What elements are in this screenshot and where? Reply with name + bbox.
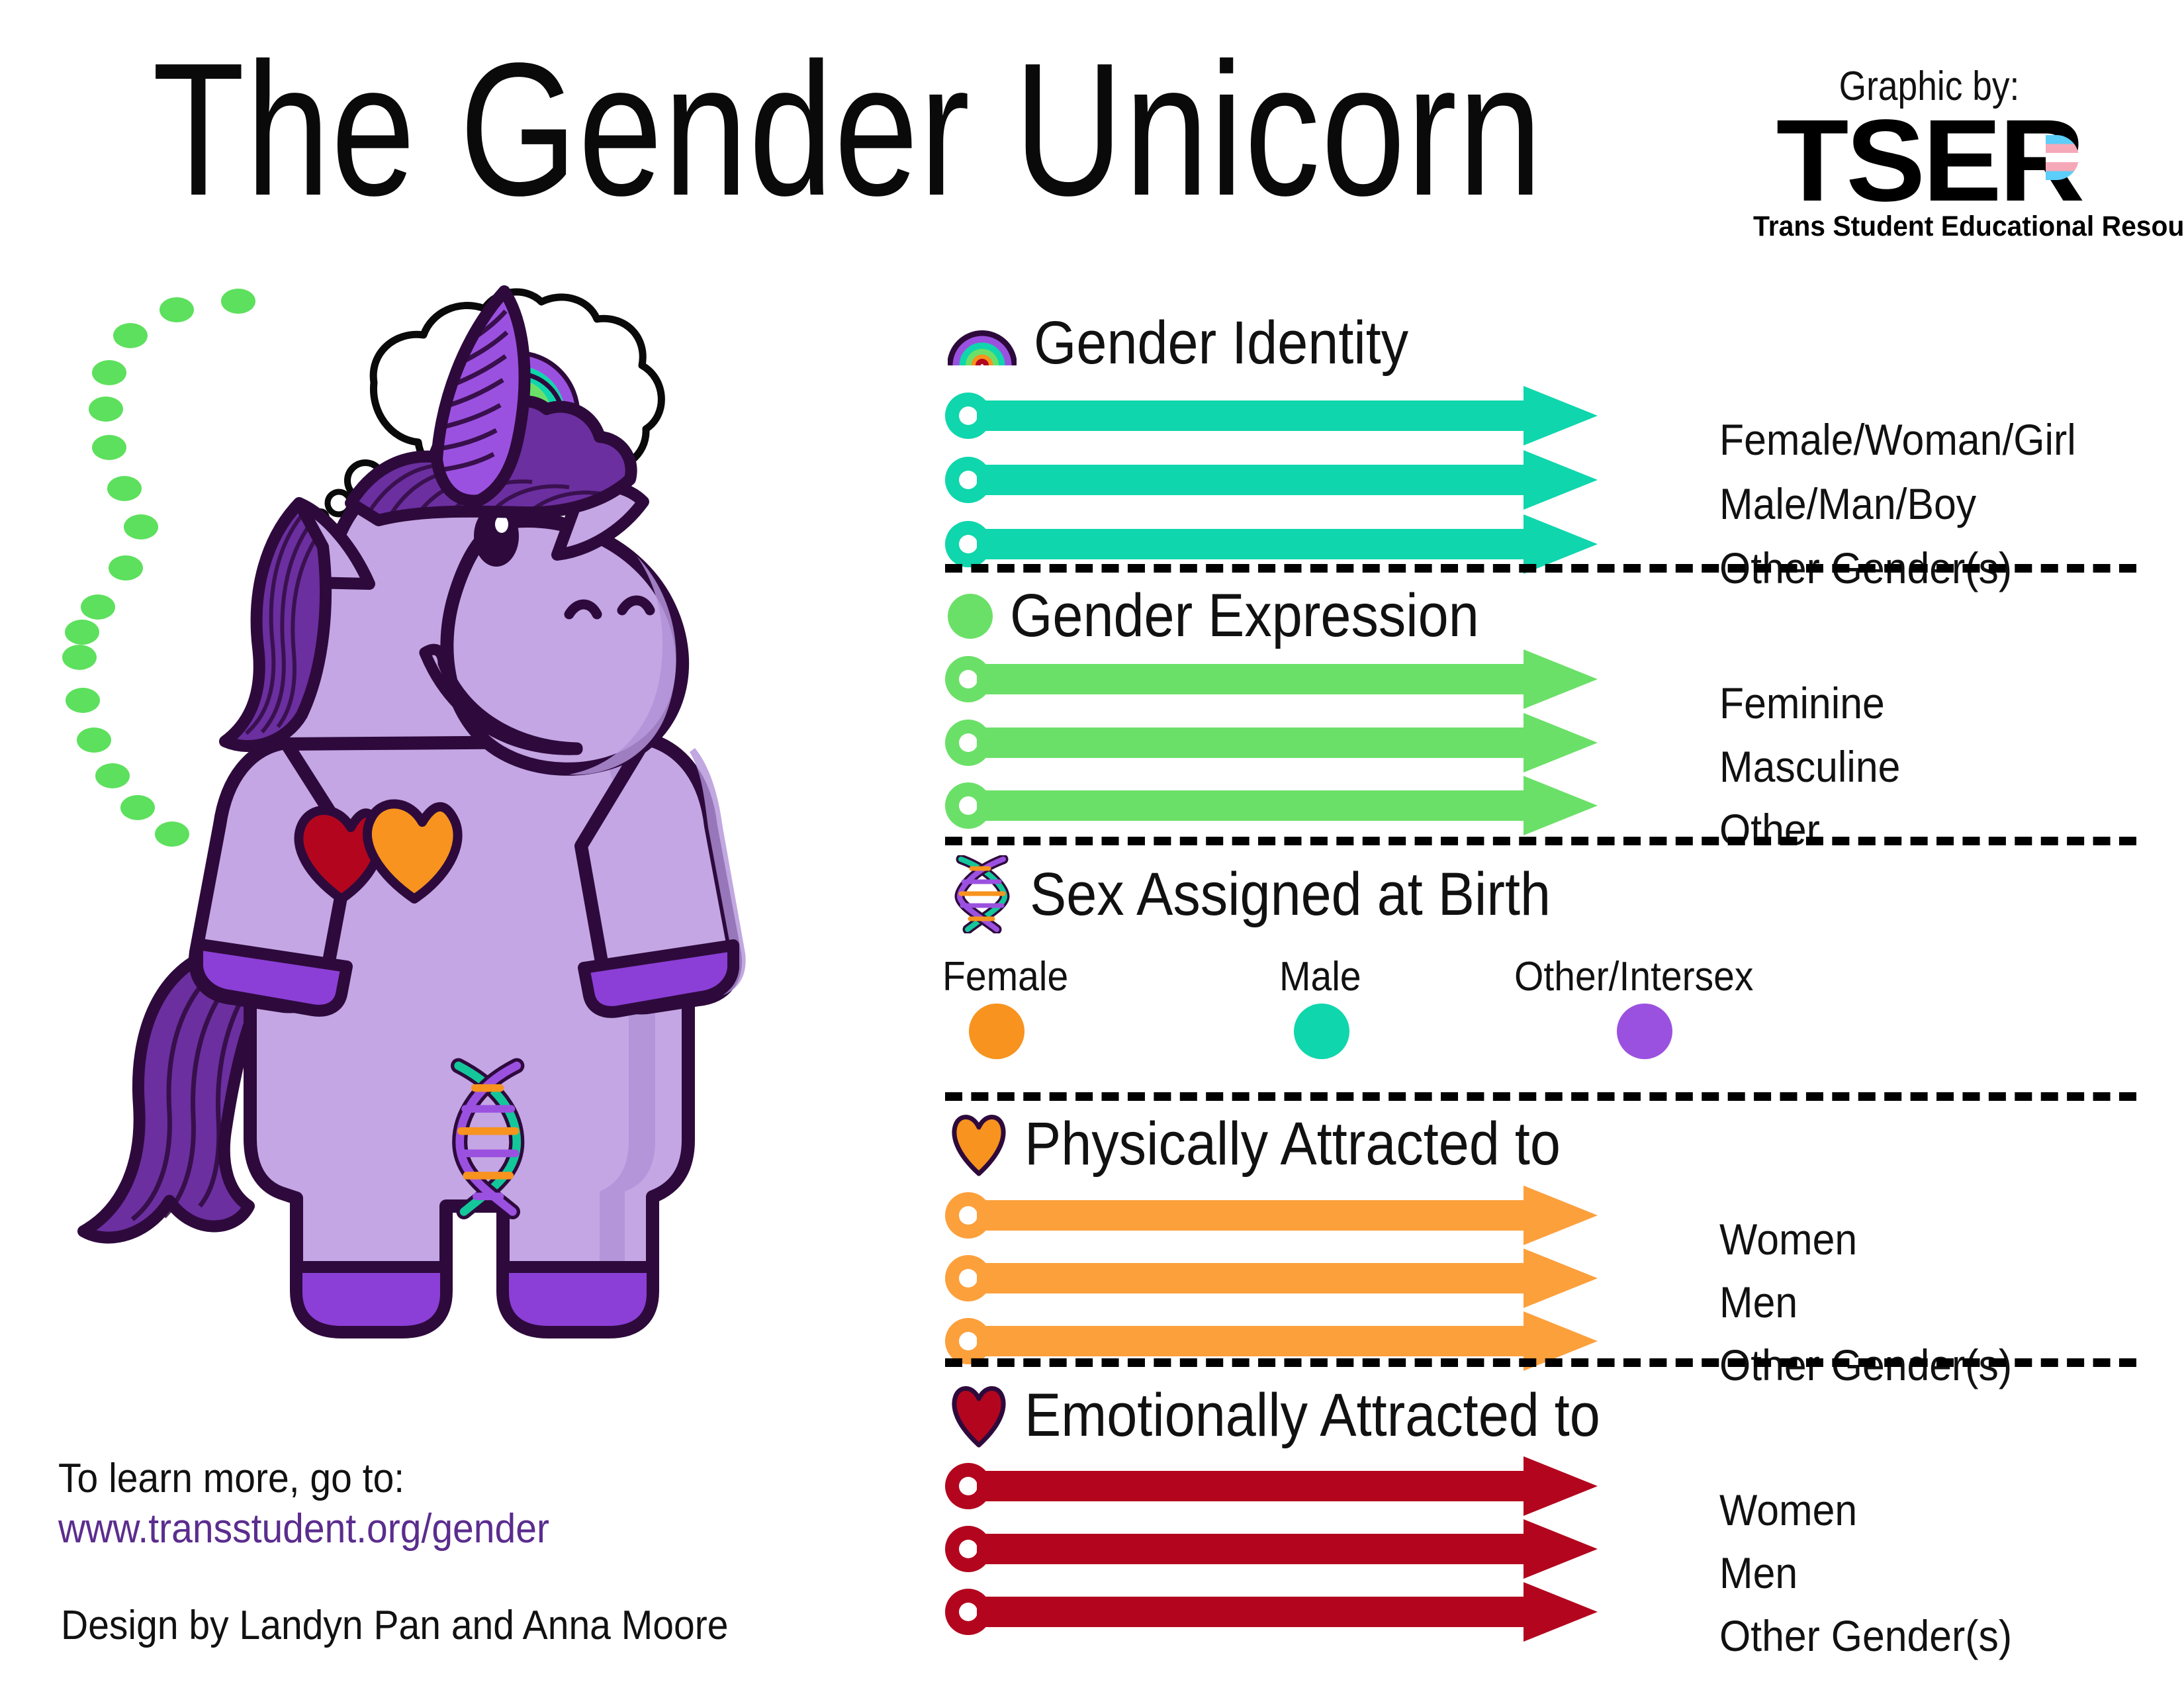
arrow-male-man-boy[interactable] — [945, 465, 1594, 495]
arrow-bar — [977, 465, 1533, 495]
row-label-emotionally-women: Women — [1719, 1485, 1857, 1535]
sex-label-other-intersex: Other/Intersex — [1514, 953, 1753, 1000]
arrow-physically-other-genders[interactable] — [945, 1326, 1594, 1356]
section-title-gender-expression: Gender Expression — [1010, 581, 1479, 651]
arrow-bar — [977, 727, 1533, 758]
arrow-physically-men[interactable] — [945, 1263, 1594, 1293]
arrow-bar — [977, 1263, 1533, 1293]
section-divider — [945, 1092, 2136, 1101]
design-credit: Design by Landyn Pan and Anna Moore — [61, 1602, 728, 1649]
page-title: The Gender Unicorn — [152, 36, 1543, 222]
arrow-head — [1524, 1582, 1598, 1642]
section-title-sex-assigned-at-birth: Sex Assigned at Birth — [1030, 860, 1551, 929]
section-header-physically-attracted-to: Physically Attracted to — [950, 1109, 1620, 1179]
arrow-bar — [977, 664, 1533, 694]
arrow-head — [1524, 386, 1598, 445]
arrow-head — [1524, 713, 1598, 773]
sex-label-male: Male — [1279, 953, 1361, 1000]
sex-dot-male[interactable] — [1294, 1004, 1349, 1059]
section-header-gender-identity: Gender Identity — [948, 308, 1450, 378]
gender-unicorn-character — [40, 285, 920, 1397]
arrow-head — [1524, 649, 1598, 709]
arrow-emotionally-other-genders[interactable] — [945, 1597, 1594, 1627]
arrow-bar — [977, 1534, 1533, 1564]
arrow-head — [1524, 776, 1598, 835]
arrow-other-expression[interactable] — [945, 790, 1594, 821]
arrow-female-woman-girl[interactable] — [945, 400, 1594, 431]
row-label-emotionally-men: Men — [1719, 1548, 1797, 1598]
arrow-head — [1524, 450, 1598, 510]
tser-subtitle: Trans Student Educational Resources — [1753, 211, 2105, 243]
tser-wordmark: TSER — [1744, 111, 2115, 209]
arrow-bar — [977, 400, 1533, 431]
learn-more-label: To learn more, go to: — [58, 1455, 404, 1502]
arrow-bar — [977, 1200, 1533, 1231]
arrow-bar — [977, 529, 1533, 559]
arrow-other-genders-identity[interactable] — [945, 529, 1594, 559]
arrow-masculine[interactable] — [945, 727, 1594, 758]
row-label-emotionally-other-genders: Other Gender(s) — [1719, 1611, 2012, 1661]
arrow-bar — [977, 790, 1533, 821]
infographic-canvas: The Gender Unicorn Graphic by: TSER Tran… — [0, 0, 2184, 1688]
section-title-emotionally-attracted-to: Emotionally Attracted to — [1024, 1381, 1600, 1450]
section-header-sex-assigned-at-birth: Sex Assigned at Birth — [952, 855, 1609, 933]
section-title-physically-attracted-to: Physically Attracted to — [1024, 1109, 1561, 1179]
arrow-bar — [977, 1326, 1533, 1356]
arrow-head — [1524, 1248, 1598, 1308]
orange-heart-icon — [950, 1113, 1007, 1176]
green-circle-icon — [948, 594, 993, 639]
row-label-physically-men: Men — [1719, 1277, 1797, 1327]
transstudent-url-link[interactable]: www.transstudent.org/gender — [58, 1505, 549, 1552]
row-label-masculine: Masculine — [1719, 741, 1900, 792]
arrow-physically-women[interactable] — [945, 1200, 1594, 1231]
dna-icon — [952, 855, 1013, 933]
row-label-female-woman-girl: Female/Woman/Girl — [1719, 414, 2076, 465]
arrow-bar — [977, 1471, 1533, 1501]
sex-dot-female[interactable] — [969, 1004, 1024, 1059]
section-divider — [945, 564, 2136, 573]
section-divider — [945, 837, 2136, 845]
arrow-head — [1524, 1456, 1598, 1516]
section-title-gender-identity: Gender Identity — [1034, 308, 1408, 378]
arrow-bar — [977, 1597, 1533, 1627]
section-header-gender-expression: Gender Expression — [948, 581, 1531, 651]
row-label-feminine: Feminine — [1719, 678, 1885, 728]
arrow-head — [1524, 1186, 1598, 1245]
arrow-emotionally-women[interactable] — [945, 1471, 1594, 1501]
arrow-emotionally-men[interactable] — [945, 1534, 1594, 1564]
sex-label-female: Female — [942, 953, 1068, 1000]
tser-logo: Graphic by: TSER Trans Student Education… — [1744, 63, 2115, 243]
green-dots-arc — [62, 289, 255, 847]
arrow-head — [1524, 1519, 1598, 1579]
rainbow-icon — [948, 318, 1017, 369]
sex-dot-other-intersex[interactable] — [1617, 1004, 1672, 1059]
row-label-physically-women: Women — [1719, 1214, 1857, 1264]
section-header-emotionally-attracted-to: Emotionally Attracted to — [950, 1381, 1664, 1450]
row-label-male-man-boy: Male/Man/Boy — [1719, 479, 1976, 529]
section-divider — [945, 1358, 2136, 1367]
arrow-feminine[interactable] — [945, 664, 1594, 694]
row-label-other-expression: Other — [1719, 804, 1820, 855]
red-heart-icon — [950, 1384, 1007, 1448]
